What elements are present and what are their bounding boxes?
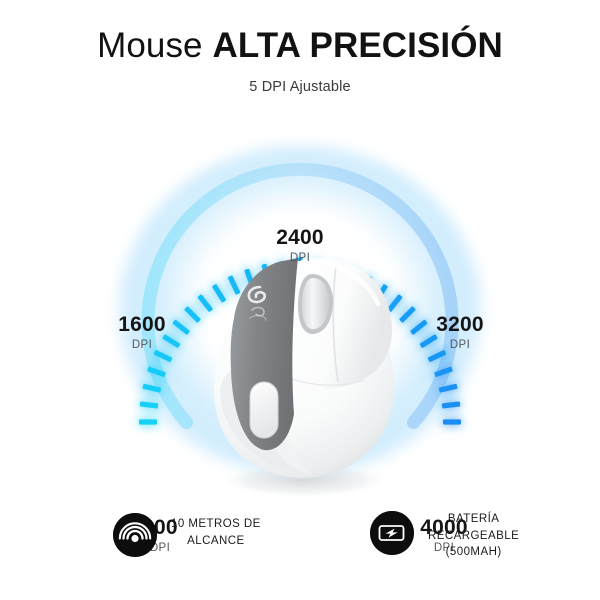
feature-battery-line-2: RECARGEABLE bbox=[428, 528, 519, 545]
rechargeable-battery-icon bbox=[370, 511, 414, 555]
title-bold-part: ALTA PRECISIÓN bbox=[212, 26, 502, 65]
feature-battery-line-1: BATERÍA bbox=[428, 511, 519, 528]
dpi-unit: DPI bbox=[94, 338, 190, 352]
dpi-value: 1600 bbox=[94, 313, 190, 337]
title-light-part: Mouse bbox=[97, 26, 203, 65]
feature-battery-text: BATERÍA RECARGEABLE (500MAH) bbox=[428, 511, 519, 561]
dpi-value: 2400 bbox=[252, 226, 348, 250]
page-subtitle: 5 DPI Ajustable bbox=[0, 77, 600, 97]
dpi-value: 3200 bbox=[412, 313, 508, 337]
dpi-label-3200: 3200 DPI bbox=[412, 313, 508, 352]
dpi-dial-hero: 2400 DPI 1600 DPI 3200 DPI 800 DPI 4000 … bbox=[0, 108, 600, 488]
feature-battery: BATERÍA RECARGEABLE (500MAH) bbox=[370, 511, 519, 561]
feature-range-text: 10 METROS DE ALCANCE bbox=[171, 513, 261, 549]
dpi-unit: DPI bbox=[412, 338, 508, 352]
feature-range: 10 METROS DE ALCANCE bbox=[113, 513, 261, 557]
feature-row: 10 METROS DE ALCANCE BATERÍA RECARGEABLE… bbox=[0, 500, 600, 600]
wireless-signal-icon bbox=[113, 513, 157, 557]
feature-battery-line-3: (500MAH) bbox=[428, 544, 519, 561]
header: Mouse ALTA PRECISIÓN 5 DPI Ajustable bbox=[0, 0, 600, 97]
page-title: Mouse ALTA PRECISIÓN bbox=[0, 24, 600, 68]
feature-range-line-1: 10 METROS DE bbox=[171, 516, 261, 533]
dpi-label-2400: 2400 DPI bbox=[252, 226, 348, 265]
feature-range-line-2: ALCANCE bbox=[171, 533, 261, 550]
dpi-unit: DPI bbox=[252, 251, 348, 265]
dpi-label-1600: 1600 DPI bbox=[94, 313, 190, 352]
